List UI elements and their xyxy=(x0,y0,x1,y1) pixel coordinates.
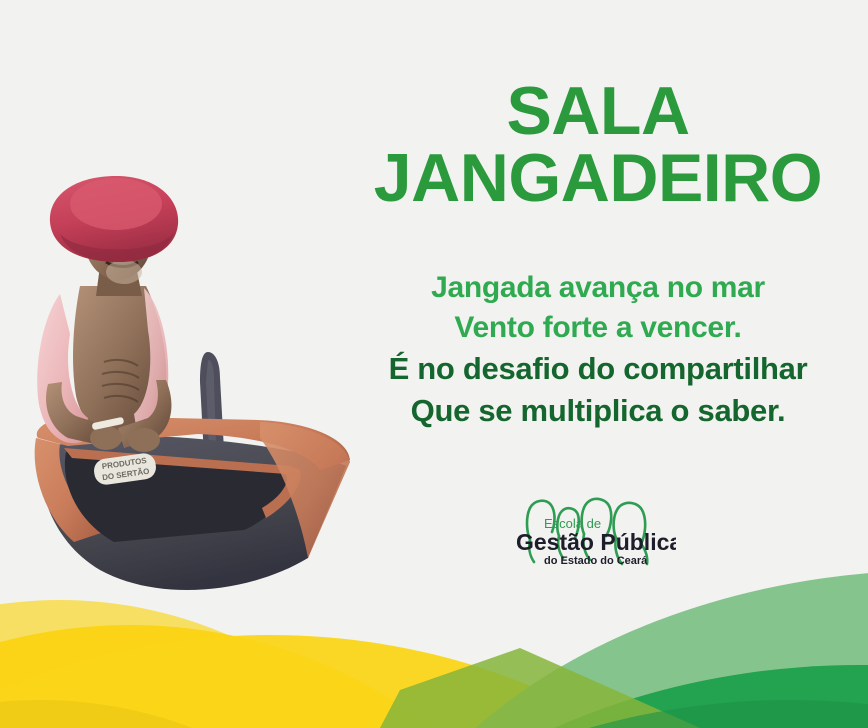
logo-line-3: do Estado do Ceará xyxy=(544,555,648,567)
egp-logo: Escola de Gestão Pública do Estado do Ce… xyxy=(506,474,676,570)
fisherman-chin xyxy=(106,260,142,284)
title-line-2: JANGADEIRO xyxy=(328,145,868,212)
poem-line-2: Vento forte a vencer. xyxy=(328,308,868,348)
fisherman-hat-crown xyxy=(70,178,162,230)
title-line-1: SALA xyxy=(328,78,868,145)
logo-line-2: Gestão Pública xyxy=(516,529,676,555)
poem-block: Jangada avança no mar Vento forte a venc… xyxy=(328,268,868,431)
poem-line-3: É no desafio do compartilhar xyxy=(328,348,868,390)
fisherman-hand-right xyxy=(128,428,160,452)
poster-canvas: PRODUTOS DO SERTÃO xyxy=(0,0,868,728)
poster-title: SALA JANGADEIRO xyxy=(328,78,868,211)
jangadeiro-sculpture-photo: PRODUTOS DO SERTÃO xyxy=(8,170,368,610)
poem-line-4: Que se multiplica o saber. xyxy=(328,390,868,432)
poem-line-1: Jangada avança no mar xyxy=(328,268,868,308)
text-column: SALA JANGADEIRO Jangada avança no mar Ve… xyxy=(328,0,868,728)
